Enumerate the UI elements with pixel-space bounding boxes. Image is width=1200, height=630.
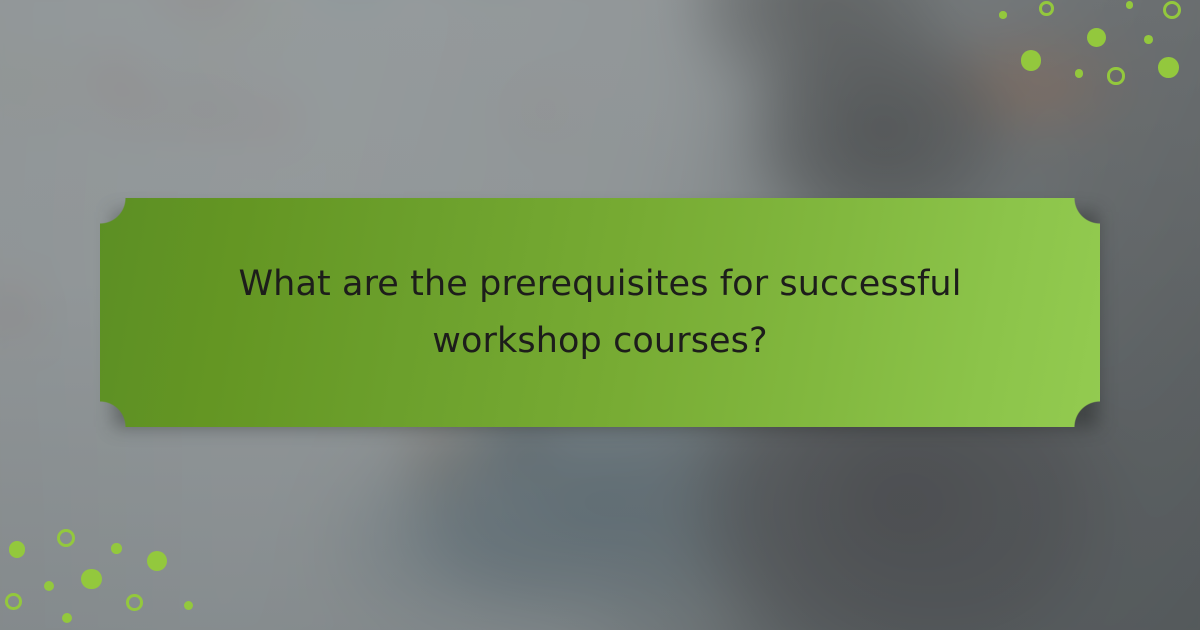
decorative-circle <box>9 541 26 558</box>
decorative-circle <box>111 543 122 554</box>
decorative-circle <box>44 581 54 591</box>
question-heading: What are the prerequisites for successfu… <box>170 256 1030 370</box>
decorative-circle <box>5 593 22 610</box>
decorative-circle <box>147 551 167 571</box>
decorative-circle <box>81 569 102 590</box>
decorative-circle <box>57 529 75 547</box>
decorative-circle <box>999 11 1006 18</box>
question-banner: What are the prerequisites for successfu… <box>100 198 1100 427</box>
decorative-circle <box>1107 67 1124 84</box>
decorative-circle <box>1144 35 1153 44</box>
decorative-circle <box>184 601 193 610</box>
decorative-circle <box>126 594 143 611</box>
decorative-circle <box>1158 57 1179 78</box>
decorative-circle <box>62 613 72 623</box>
decorative-circles-bottom-left <box>0 510 230 630</box>
screenshot-stage: What are the prerequisites for successfu… <box>0 0 1200 630</box>
decorative-circles-top-right <box>980 0 1200 120</box>
decorative-circle <box>1039 1 1054 16</box>
decorative-circle <box>1087 28 1106 47</box>
decorative-circle <box>1021 50 1042 71</box>
decorative-circle <box>1163 1 1182 20</box>
banner-surface: What are the prerequisites for successfu… <box>100 198 1100 427</box>
decorative-circle <box>1126 1 1133 8</box>
decorative-circle <box>1075 69 1084 78</box>
